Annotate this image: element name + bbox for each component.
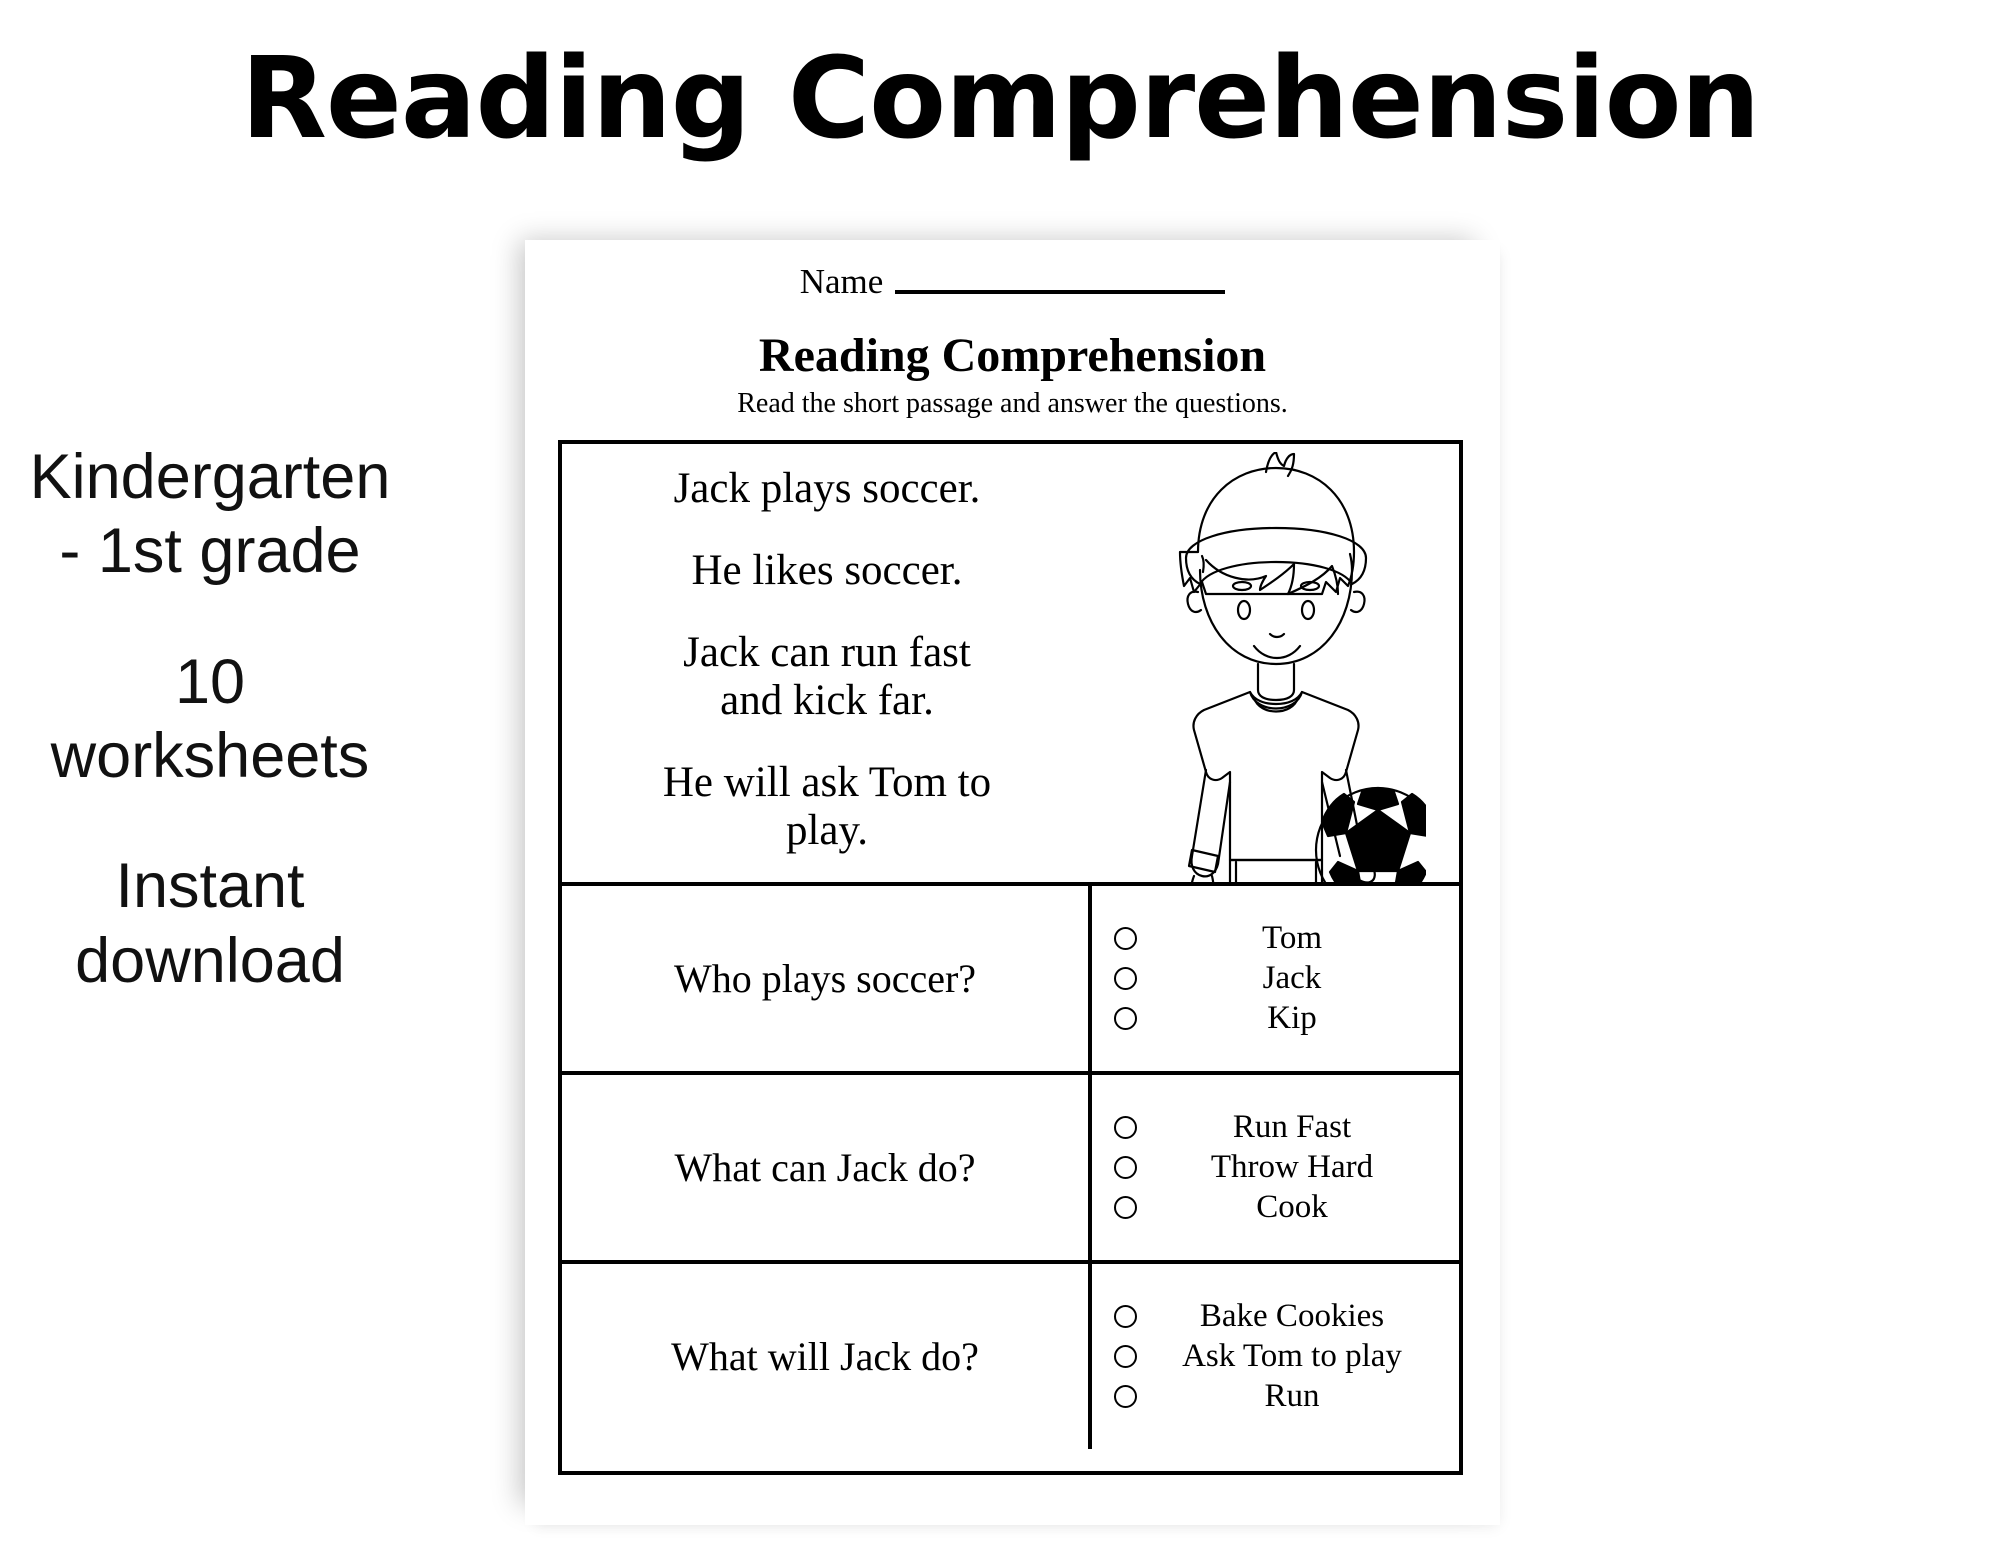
worksheet-subtitle: Read the short passage and answer the qu… — [525, 388, 1500, 420]
answer-label: Bake Cookies — [1137, 1298, 1453, 1335]
answer-label: Ask Tom to play — [1137, 1338, 1453, 1375]
question-prompt: What can Jack do? — [562, 1075, 1092, 1260]
promo-line: download — [0, 924, 420, 998]
list-item[interactable]: Run Fast — [1098, 1108, 1453, 1148]
promo-line: 10 — [0, 645, 420, 719]
table-row: Who plays soccer? Tom Jack Kip — [562, 886, 1459, 1075]
promo-column: Kindergarten - 1st grade 10 worksheets I… — [0, 440, 420, 998]
question-prompt: What will Jack do? — [562, 1264, 1092, 1449]
table-row: What will Jack do? Bake Cookies Ask Tom … — [562, 1264, 1459, 1449]
answer-options: Run Fast Throw Hard Cook — [1092, 1075, 1459, 1260]
list-item[interactable]: Cook — [1098, 1188, 1453, 1228]
answer-bubble-icon[interactable] — [1114, 1345, 1137, 1368]
list-item[interactable]: Run — [1098, 1377, 1453, 1417]
promo-block-delivery: Instant download — [0, 849, 420, 998]
list-item[interactable]: Bake Cookies — [1098, 1297, 1453, 1337]
promo-line: worksheets — [0, 719, 420, 793]
list-item[interactable]: Throw Hard — [1098, 1148, 1453, 1188]
answer-label: Kip — [1137, 1000, 1453, 1037]
worksheet-title: Reading Comprehension — [525, 328, 1500, 383]
passage-sentence: He will ask Tom to play. — [663, 759, 991, 855]
promo-line: Instant — [0, 849, 420, 923]
page-title: Reading Comprehension — [0, 34, 2000, 164]
answer-label: Run — [1137, 1378, 1453, 1415]
answer-bubble-icon[interactable] — [1114, 967, 1137, 990]
promo-block-grade: Kindergarten - 1st grade — [0, 440, 420, 589]
answer-options: Tom Jack Kip — [1092, 886, 1459, 1071]
passage-row: Jack plays soccer. He likes soccer. Jack… — [562, 444, 1459, 886]
answer-label: Cook — [1137, 1189, 1453, 1226]
passage-sentence: Jack plays soccer. — [674, 465, 981, 513]
passage-sentence-line: He will ask Tom to — [663, 759, 991, 806]
name-input-line[interactable] — [895, 290, 1225, 294]
passage-sentence-line: and kick far. — [720, 677, 934, 724]
passage-sentence-line: play. — [786, 807, 868, 854]
answer-label: Throw Hard — [1137, 1149, 1453, 1186]
promo-block-count: 10 worksheets — [0, 645, 420, 794]
name-row: Name — [525, 262, 1500, 302]
answer-label: Tom — [1137, 920, 1453, 957]
answer-label: Jack — [1137, 960, 1453, 997]
answer-label: Run Fast — [1137, 1109, 1453, 1146]
question-prompt: Who plays soccer? — [562, 886, 1092, 1071]
list-item[interactable]: Tom — [1098, 919, 1453, 959]
answer-bubble-icon[interactable] — [1114, 1007, 1137, 1030]
answer-bubble-icon[interactable] — [1114, 927, 1137, 950]
passage-text: Jack plays soccer. He likes soccer. Jack… — [562, 444, 1092, 882]
answer-bubble-icon[interactable] — [1114, 1305, 1137, 1328]
worksheet-frame: Jack plays soccer. He likes soccer. Jack… — [558, 440, 1463, 1475]
passage-sentence: Jack can run fast and kick far. — [683, 629, 971, 725]
answer-options: Bake Cookies Ask Tom to play Run — [1092, 1264, 1459, 1449]
answer-bubble-icon[interactable] — [1114, 1156, 1137, 1179]
worksheet-page: Name Reading Comprehension Read the shor… — [525, 240, 1500, 1525]
table-row: What can Jack do? Run Fast Throw Hard Co… — [562, 1075, 1459, 1264]
name-label: Name — [800, 262, 896, 302]
boy-with-soccer-ball-icon — [1092, 444, 1459, 882]
list-item[interactable]: Ask Tom to play — [1098, 1337, 1453, 1377]
list-item[interactable]: Kip — [1098, 999, 1453, 1039]
answer-bubble-icon[interactable] — [1114, 1196, 1137, 1219]
promo-line: - 1st grade — [0, 514, 420, 588]
answer-bubble-icon[interactable] — [1114, 1116, 1137, 1139]
answer-bubble-icon[interactable] — [1114, 1385, 1137, 1408]
passage-sentence: He likes soccer. — [691, 547, 962, 595]
passage-sentence-line: Jack can run fast — [683, 629, 971, 676]
promo-line: Kindergarten — [0, 440, 420, 514]
list-item[interactable]: Jack — [1098, 959, 1453, 999]
